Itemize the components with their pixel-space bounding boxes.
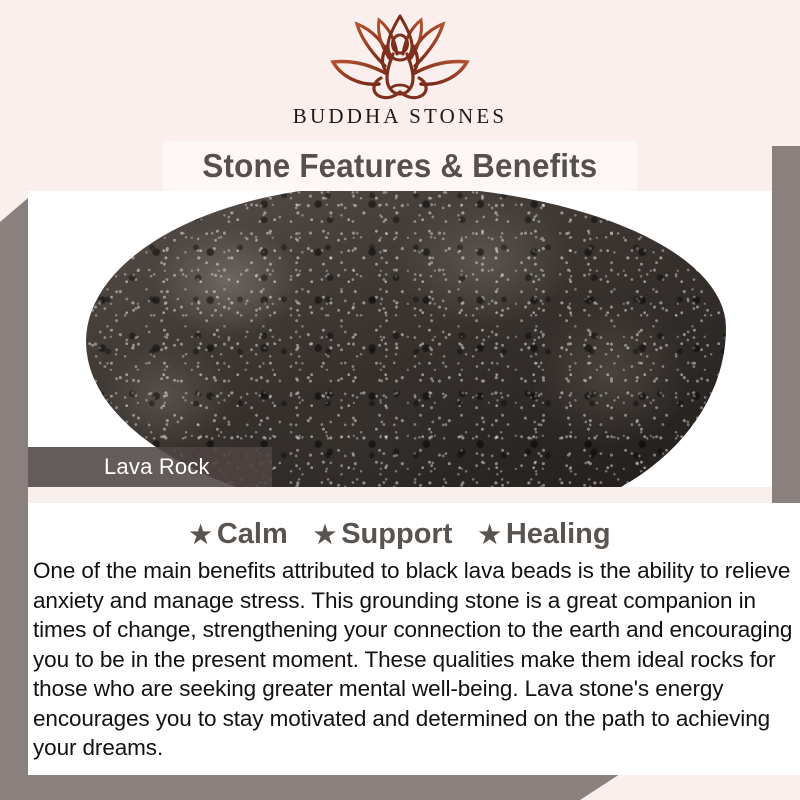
header: BUDDHA STONES bbox=[0, 0, 800, 146]
photo-caption-label: Lava Rock bbox=[104, 454, 210, 480]
benefit-item-healing: ★Healing bbox=[478, 518, 610, 551]
star-icon: ★ bbox=[314, 521, 336, 549]
infographic-card: BUDDHA STONES Lava Rock ★Calm ★Support ★… bbox=[0, 0, 800, 800]
benefit-label: Calm bbox=[217, 518, 288, 550]
brand-logo: BUDDHA STONES bbox=[0, 14, 800, 129]
body-paragraph: One of the main benefits attributed to b… bbox=[33, 556, 795, 763]
lotus-meditation-icon bbox=[325, 14, 475, 102]
brand-name: BUDDHA STONES bbox=[0, 104, 800, 129]
benefit-label: Support bbox=[341, 518, 452, 550]
benefit-label: Healing bbox=[506, 518, 611, 550]
photo-caption-bar: Lava Rock bbox=[28, 447, 272, 487]
benefit-item-support: ★Support bbox=[314, 518, 453, 551]
title-banner: Stone Features & Benefits bbox=[163, 141, 637, 191]
star-icon: ★ bbox=[478, 521, 500, 549]
page-title: Stone Features & Benefits bbox=[203, 147, 598, 185]
benefit-item-calm: ★Calm bbox=[189, 518, 287, 551]
rock-edge-softener bbox=[68, 191, 748, 487]
frame-bottom-bar bbox=[0, 774, 620, 800]
lava-rock-photo bbox=[28, 191, 772, 487]
benefits-row: ★Calm ★Support ★Healing bbox=[0, 518, 800, 551]
section-divider bbox=[28, 487, 772, 503]
frame-left-bar bbox=[0, 198, 28, 778]
star-icon: ★ bbox=[189, 521, 211, 549]
